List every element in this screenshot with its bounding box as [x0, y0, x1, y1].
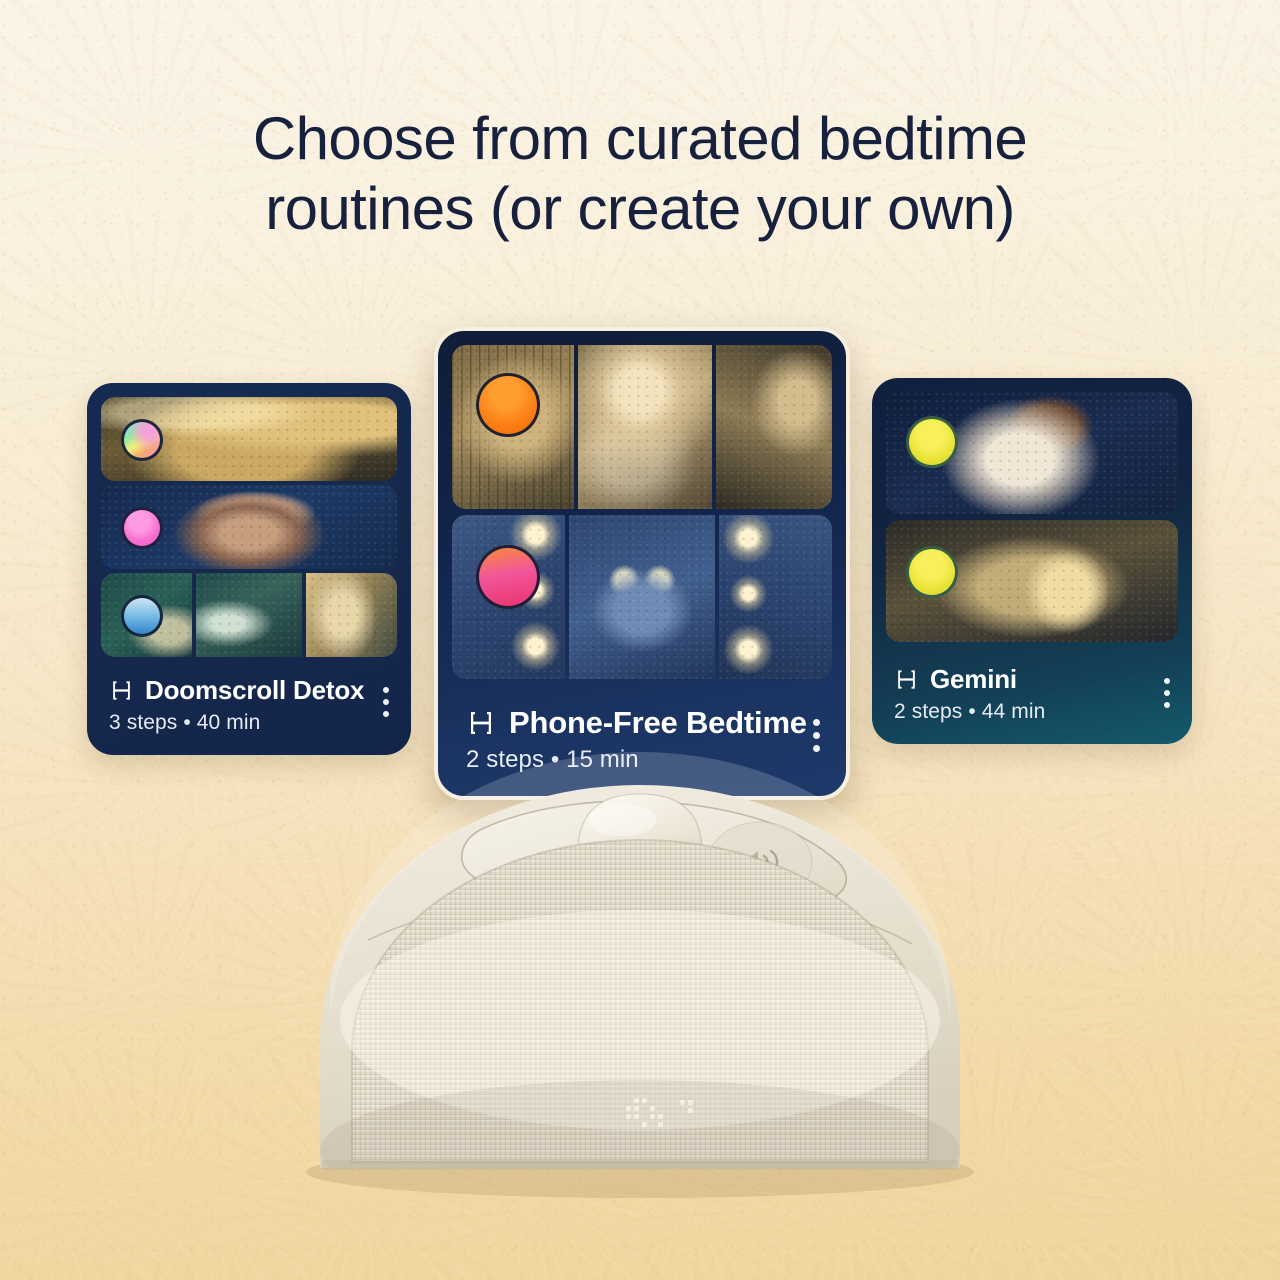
device-base-lip [322, 1160, 958, 1170]
smart-speaker[interactable] [0, 0, 1280, 1280]
knob-highlight [588, 804, 656, 836]
